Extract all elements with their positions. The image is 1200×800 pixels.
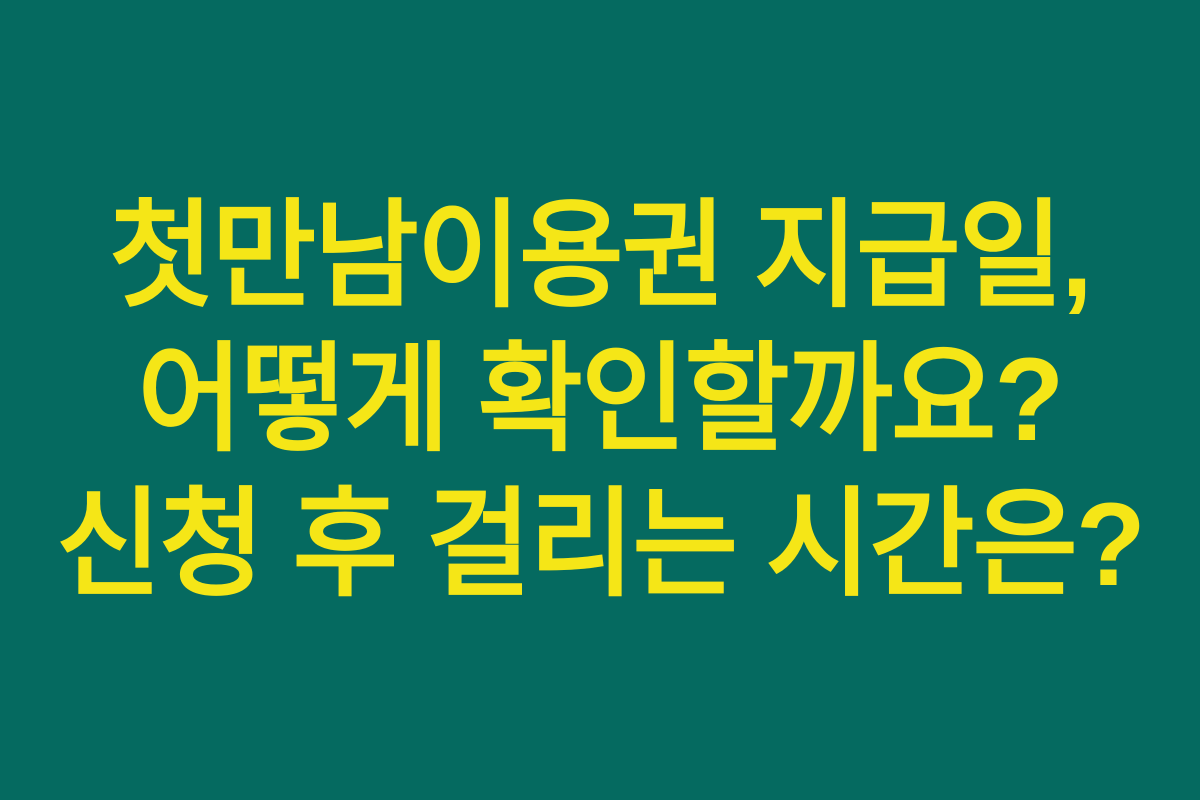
headline-line-3: 신청 후 걸리는 시간은?	[32, 473, 1169, 618]
headline-line-2: 어떻게 확인할까요?	[32, 328, 1169, 473]
headline-block: 첫만남이용권 지급일, 어떻게 확인할까요? 신청 후 걸리는 시간은?	[0, 183, 1200, 618]
headline-line-1: 첫만남이용권 지급일,	[32, 183, 1169, 328]
poster-canvas: 첫만남이용권 지급일, 어떻게 확인할까요? 신청 후 걸리는 시간은?	[0, 0, 1200, 800]
